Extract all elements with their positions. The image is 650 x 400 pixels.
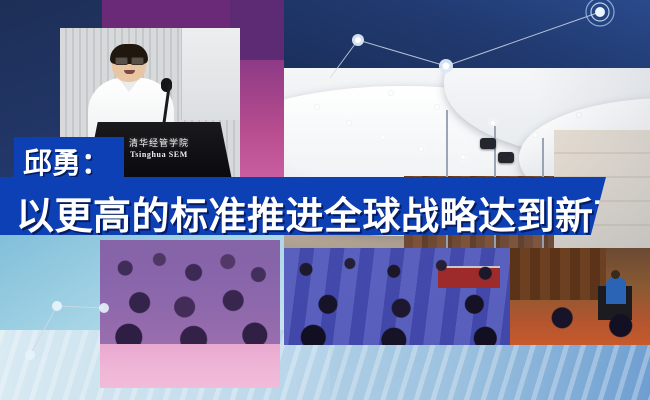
- photo-audience-hall: [284, 248, 650, 345]
- news-banner: 清华经管学院 Tsinghua SEM: [0, 0, 650, 400]
- audience-heads: [284, 248, 650, 345]
- title-line-1: 邱勇：: [23, 140, 110, 182]
- title-line-2-band: 以更高的标准推进全球战略达到新高度: [0, 177, 606, 235]
- title-line-1-band: 邱勇：: [14, 137, 124, 179]
- wall-panel: [181, 28, 240, 120]
- background-sky-panel: [280, 0, 650, 70]
- eyeglass-left: [115, 57, 128, 65]
- eyeglass-right: [131, 57, 144, 65]
- photo-audience-purple: [100, 240, 280, 348]
- pink-accent-block: [100, 344, 280, 388]
- title-line-2: 以更高的标准推进全球战略达到新高度: [16, 185, 650, 240]
